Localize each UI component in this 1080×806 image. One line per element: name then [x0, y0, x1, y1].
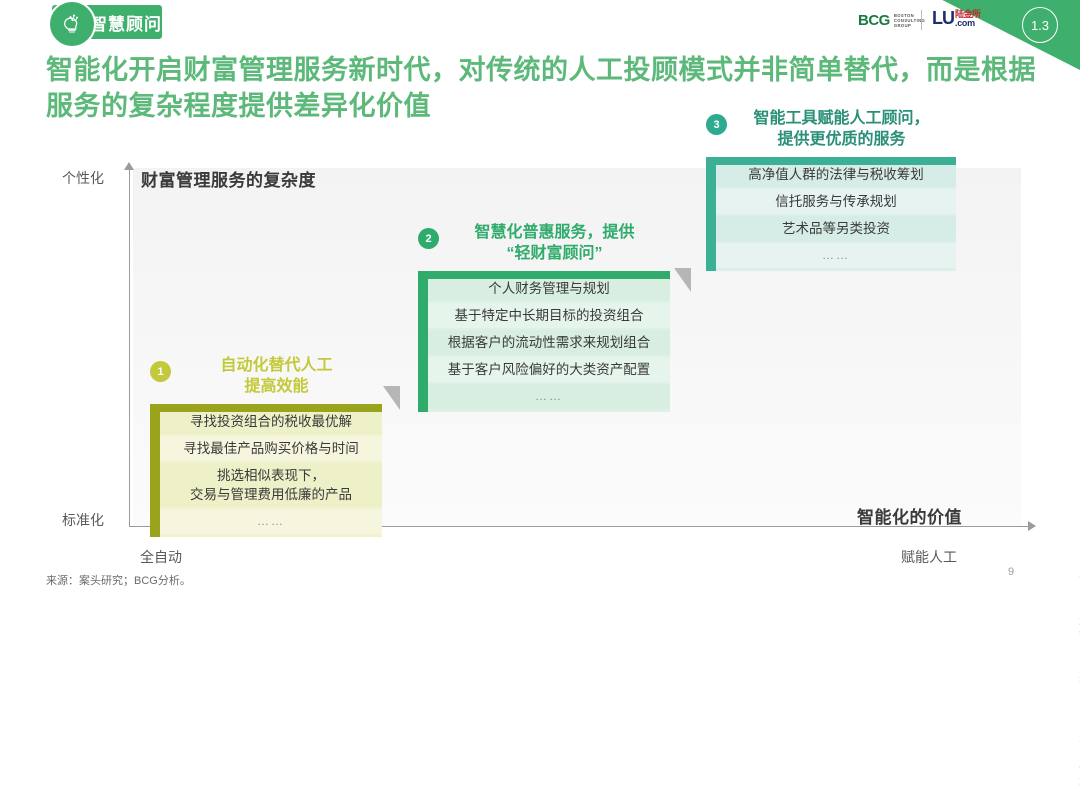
group-3-item-list: 高净值人群的法律与税收筹划 信托服务与传承规划 艺术品等另类投资 …… [716, 157, 956, 271]
list-item: 寻找最佳产品购买价格与时间 [160, 436, 382, 461]
x-axis-arrow-icon [1028, 521, 1036, 531]
group-2-header: 2 智慧化普惠服务，提供 “轻财富顾问” [418, 222, 670, 264]
group-3-card: 高净值人群的法律与税收筹划 信托服务与传承规划 艺术品等另类投资 …… [706, 157, 956, 271]
bcg-logo: BCG BOSTON CONSULTING GROUP [858, 12, 925, 29]
group-1: 1 自动化替代人工 提高效能 寻找投资组合的税收最优解 寻找最佳产品购买价格与时… [150, 355, 382, 537]
list-item: 寻找投资组合的税收最优解 [160, 409, 382, 434]
list-item: …… [160, 509, 382, 534]
slide-number-badge: 1.3 [1022, 7, 1058, 43]
connector-arrow-1 [383, 386, 400, 410]
page-number: 9 [1008, 566, 1014, 578]
lightbulb-head-icon [48, 0, 96, 48]
y-axis-bottom-label: 标准化 [62, 510, 104, 530]
group-1-item-list: 寻找投资组合的税收最优解 寻找最佳产品购买价格与时间 挑选相似表现下， 交易与管… [160, 404, 382, 537]
list-item: …… [716, 243, 956, 268]
group-1-card-side-bar [150, 404, 160, 537]
chart-title: 财富管理服务的复杂度 [141, 166, 316, 191]
logo-separator [921, 10, 922, 30]
x-axis-right-label: 赋能人工 [901, 547, 957, 567]
group-2: 2 智慧化普惠服务，提供 “轻财富顾问” 个人财务管理与规划 基于特定中长期目标… [418, 222, 670, 412]
group-3: 3 智能工具赋能人工顾问， 提供更优质的服务 高净值人群的法律与税收筹划 信托服… [706, 108, 956, 271]
list-item: 艺术品等另类投资 [716, 216, 956, 241]
y-axis-line [129, 168, 130, 526]
group-1-card-top-bar [150, 404, 382, 412]
group-2-item-list: 个人财务管理与规划 基于特定中长期目标的投资组合 根据客户的流动性需求来规划组合… [428, 271, 670, 412]
lu-logo-mark: LU [932, 10, 954, 26]
x-axis-left-label: 全自动 [140, 547, 182, 567]
list-item: 高净值人群的法律与税收筹划 [716, 162, 956, 187]
connector-arrow-2 [674, 268, 691, 292]
list-item: 基于客户风险偏好的大类资产配置 [428, 357, 670, 382]
y-axis-top-label: 个性化 [62, 168, 104, 188]
lu-logo-domain: .com [955, 19, 981, 28]
group-2-card: 个人财务管理与规划 基于特定中长期目标的投资组合 根据客户的流动性需求来规划组合… [418, 271, 670, 412]
bcg-logo-mark: BCG [858, 12, 890, 29]
group-1-header: 1 自动化替代人工 提高效能 [150, 355, 382, 397]
group-2-title: 智慧化普惠服务，提供 “轻财富顾问” [439, 222, 670, 264]
x-axis-title: 智能化的价值 [857, 503, 962, 528]
source-note: 来源：案头研究；BCG分析。 [46, 572, 191, 588]
list-item: …… [428, 384, 670, 409]
group-1-number-badge: 1 [150, 361, 171, 382]
group-3-header: 3 智能工具赋能人工顾问， 提供更优质的服务 [706, 108, 956, 150]
group-1-title: 自动化替代人工 提高效能 [171, 355, 382, 397]
list-item: 个人财务管理与规划 [428, 276, 670, 301]
group-1-card: 寻找投资组合的税收最优解 寻找最佳产品购买价格与时间 挑选相似表现下， 交易与管… [150, 404, 382, 537]
group-3-card-side-bar [706, 157, 716, 271]
group-3-card-top-bar [706, 157, 956, 165]
group-2-number-badge: 2 [418, 228, 439, 249]
list-item: 根据客户的流动性需求来规划组合 [428, 330, 670, 355]
list-item: 信托服务与传承规划 [716, 189, 956, 214]
y-axis-arrow-icon [124, 162, 134, 170]
group-2-card-side-bar [418, 271, 428, 412]
group-3-number-badge: 3 [706, 114, 727, 135]
group-2-card-top-bar [418, 271, 670, 279]
list-item: 挑选相似表现下， 交易与管理费用低廉的产品 [160, 463, 382, 507]
lu-logo: LU 陆金所 .com [932, 10, 981, 28]
list-item: 基于特定中长期目标的投资组合 [428, 303, 670, 328]
section-badge-label: 智慧顾问 [90, 10, 162, 35]
group-3-title: 智能工具赋能人工顾问， 提供更优质的服务 [727, 108, 956, 150]
slide-number-text: 1.3 [1031, 18, 1049, 33]
